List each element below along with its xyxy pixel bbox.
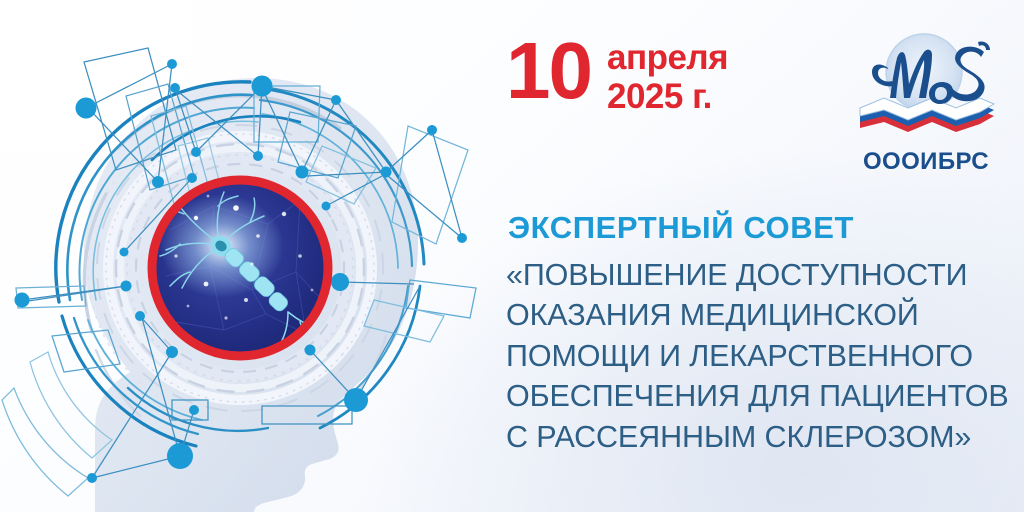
tricolor-ribbon-icon	[860, 98, 994, 132]
event-banner: 10 апреля 2025 г.	[0, 0, 1024, 512]
page-title: ЭКСПЕРТНЫЙ СОВЕТ	[508, 212, 854, 243]
event-date-monthyear: апреля 2025 г.	[607, 38, 728, 116]
organization-logo: ОООИБРС	[850, 28, 1002, 186]
artwork-head-neuron-graphic	[0, 0, 500, 512]
subtitle-line-4: ОБЕСПЕЧЕНИЯ ДЛЯ ПАЦИЕНТОВ	[506, 376, 1006, 416]
event-date-year: 2025 г.	[607, 77, 728, 116]
event-date-month: апреля	[607, 38, 728, 77]
logo-caption: ОООИБРС	[850, 150, 1002, 174]
content-column: 10 апреля 2025 г.	[498, 0, 1024, 512]
subtitle-line-2: ОКАЗАНИЯ МЕДИЦИНСКОЙ	[506, 295, 1006, 335]
logo-mark-icon	[850, 28, 1002, 148]
subtitle-line-3: ПОМОЩИ И ЛЕКАРСТВЕННОГО	[506, 336, 1006, 376]
event-subtitle: «ПОВЫШЕНИЕ ДОСТУПНОСТИ ОКАЗАНИЯ МЕДИЦИНС…	[506, 255, 1006, 457]
subtitle-line-1: «ПОВЫШЕНИЕ ДОСТУПНОСТИ	[506, 255, 1006, 295]
event-date-day: 10	[506, 34, 591, 108]
subtitle-line-5: С РАССЕЯННЫМ СКЛЕРОЗОМ»	[506, 417, 1006, 457]
event-date: 10 апреля 2025 г.	[506, 34, 728, 116]
